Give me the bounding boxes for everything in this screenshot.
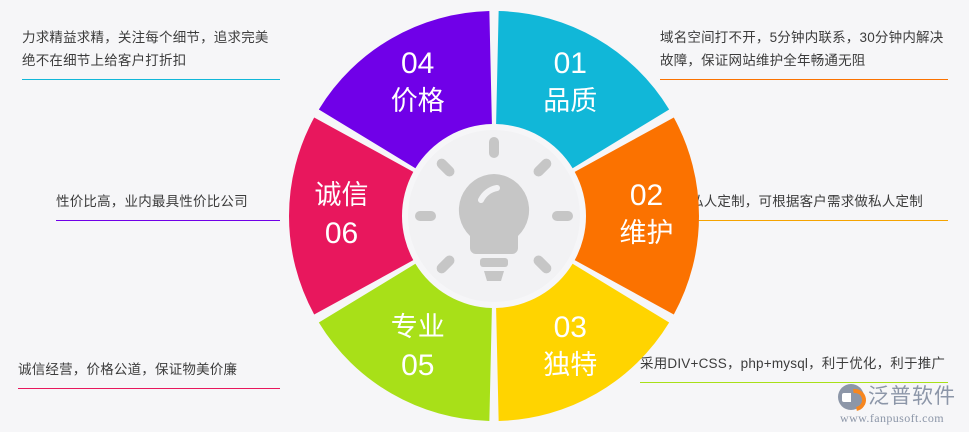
segment-04-label: 价格 <box>391 86 445 116</box>
segment-01-number: 01 <box>554 47 587 80</box>
segment-06-label: 诚信 <box>315 180 369 210</box>
callout-unique: 私人定制，可根据客户需求做私人定制 <box>690 190 948 221</box>
callout-quality-text: 力求精益求精，关注每个细节，追求完美 绝不在细节上给客户打折扣 <box>22 26 280 72</box>
callout-price: 性价比高，业内最具性价比公司 <box>56 190 280 221</box>
callout-integrity-text: 诚信经营，价格公道，保证物美价廉 <box>18 358 280 381</box>
callout-price-rule <box>56 220 280 221</box>
segment-01-label: 品质 <box>543 86 597 116</box>
segment-03-number: 03 <box>554 311 587 344</box>
callout-quality: 力求精益求精，关注每个细节，追求完美 绝不在细节上给客户打折扣 <box>22 26 280 80</box>
brand-logo-row: 泛普软件 <box>838 384 964 410</box>
brand-name: 泛普软件 <box>868 385 956 409</box>
callout-quality-line1: 力求精益求精，关注每个细节，追求完美 <box>22 26 280 49</box>
segment-02-label: 维护 <box>620 218 674 248</box>
callout-price-text: 性价比高，业内最具性价比公司 <box>56 190 280 213</box>
segment-05-label: 专业 <box>391 312 445 342</box>
infographic-canvas: 力求精益求精，关注每个细节，追求完美 绝不在细节上给客户打折扣 性价比高，业内最… <box>0 0 969 432</box>
callout-quality-line2: 绝不在细节上给客户打折扣 <box>22 49 280 72</box>
segment-03-label: 独特 <box>543 350 597 380</box>
callout-integrity-rule <box>18 388 280 389</box>
callout-quality-rule <box>22 79 280 80</box>
callout-integrity: 诚信经营，价格公道，保证物美价廉 <box>18 358 280 389</box>
segment-05-number: 05 <box>401 349 434 382</box>
fanpu-swirl-icon <box>838 384 864 410</box>
callout-unique-text: 私人定制，可根据客户需求做私人定制 <box>690 190 948 213</box>
callout-price-line1: 性价比高，业内最具性价比公司 <box>56 190 280 213</box>
brand-logo: 泛普软件 www.fanpusoft.com <box>838 384 964 428</box>
advantages-wheel: 01品质02维护03独特专业05诚信0604价格 <box>284 4 704 428</box>
callout-integrity-line1: 诚信经营，价格公道，保证物美价廉 <box>18 358 280 381</box>
callout-unique-rule <box>690 220 948 221</box>
brand-website: www.fanpusoft.com <box>840 411 964 426</box>
segment-04-number: 04 <box>401 47 434 80</box>
segment-06-number: 06 <box>325 217 358 250</box>
callout-unique-line1: 私人定制，可根据客户需求做私人定制 <box>690 190 948 213</box>
segment-02-number: 02 <box>630 179 663 212</box>
